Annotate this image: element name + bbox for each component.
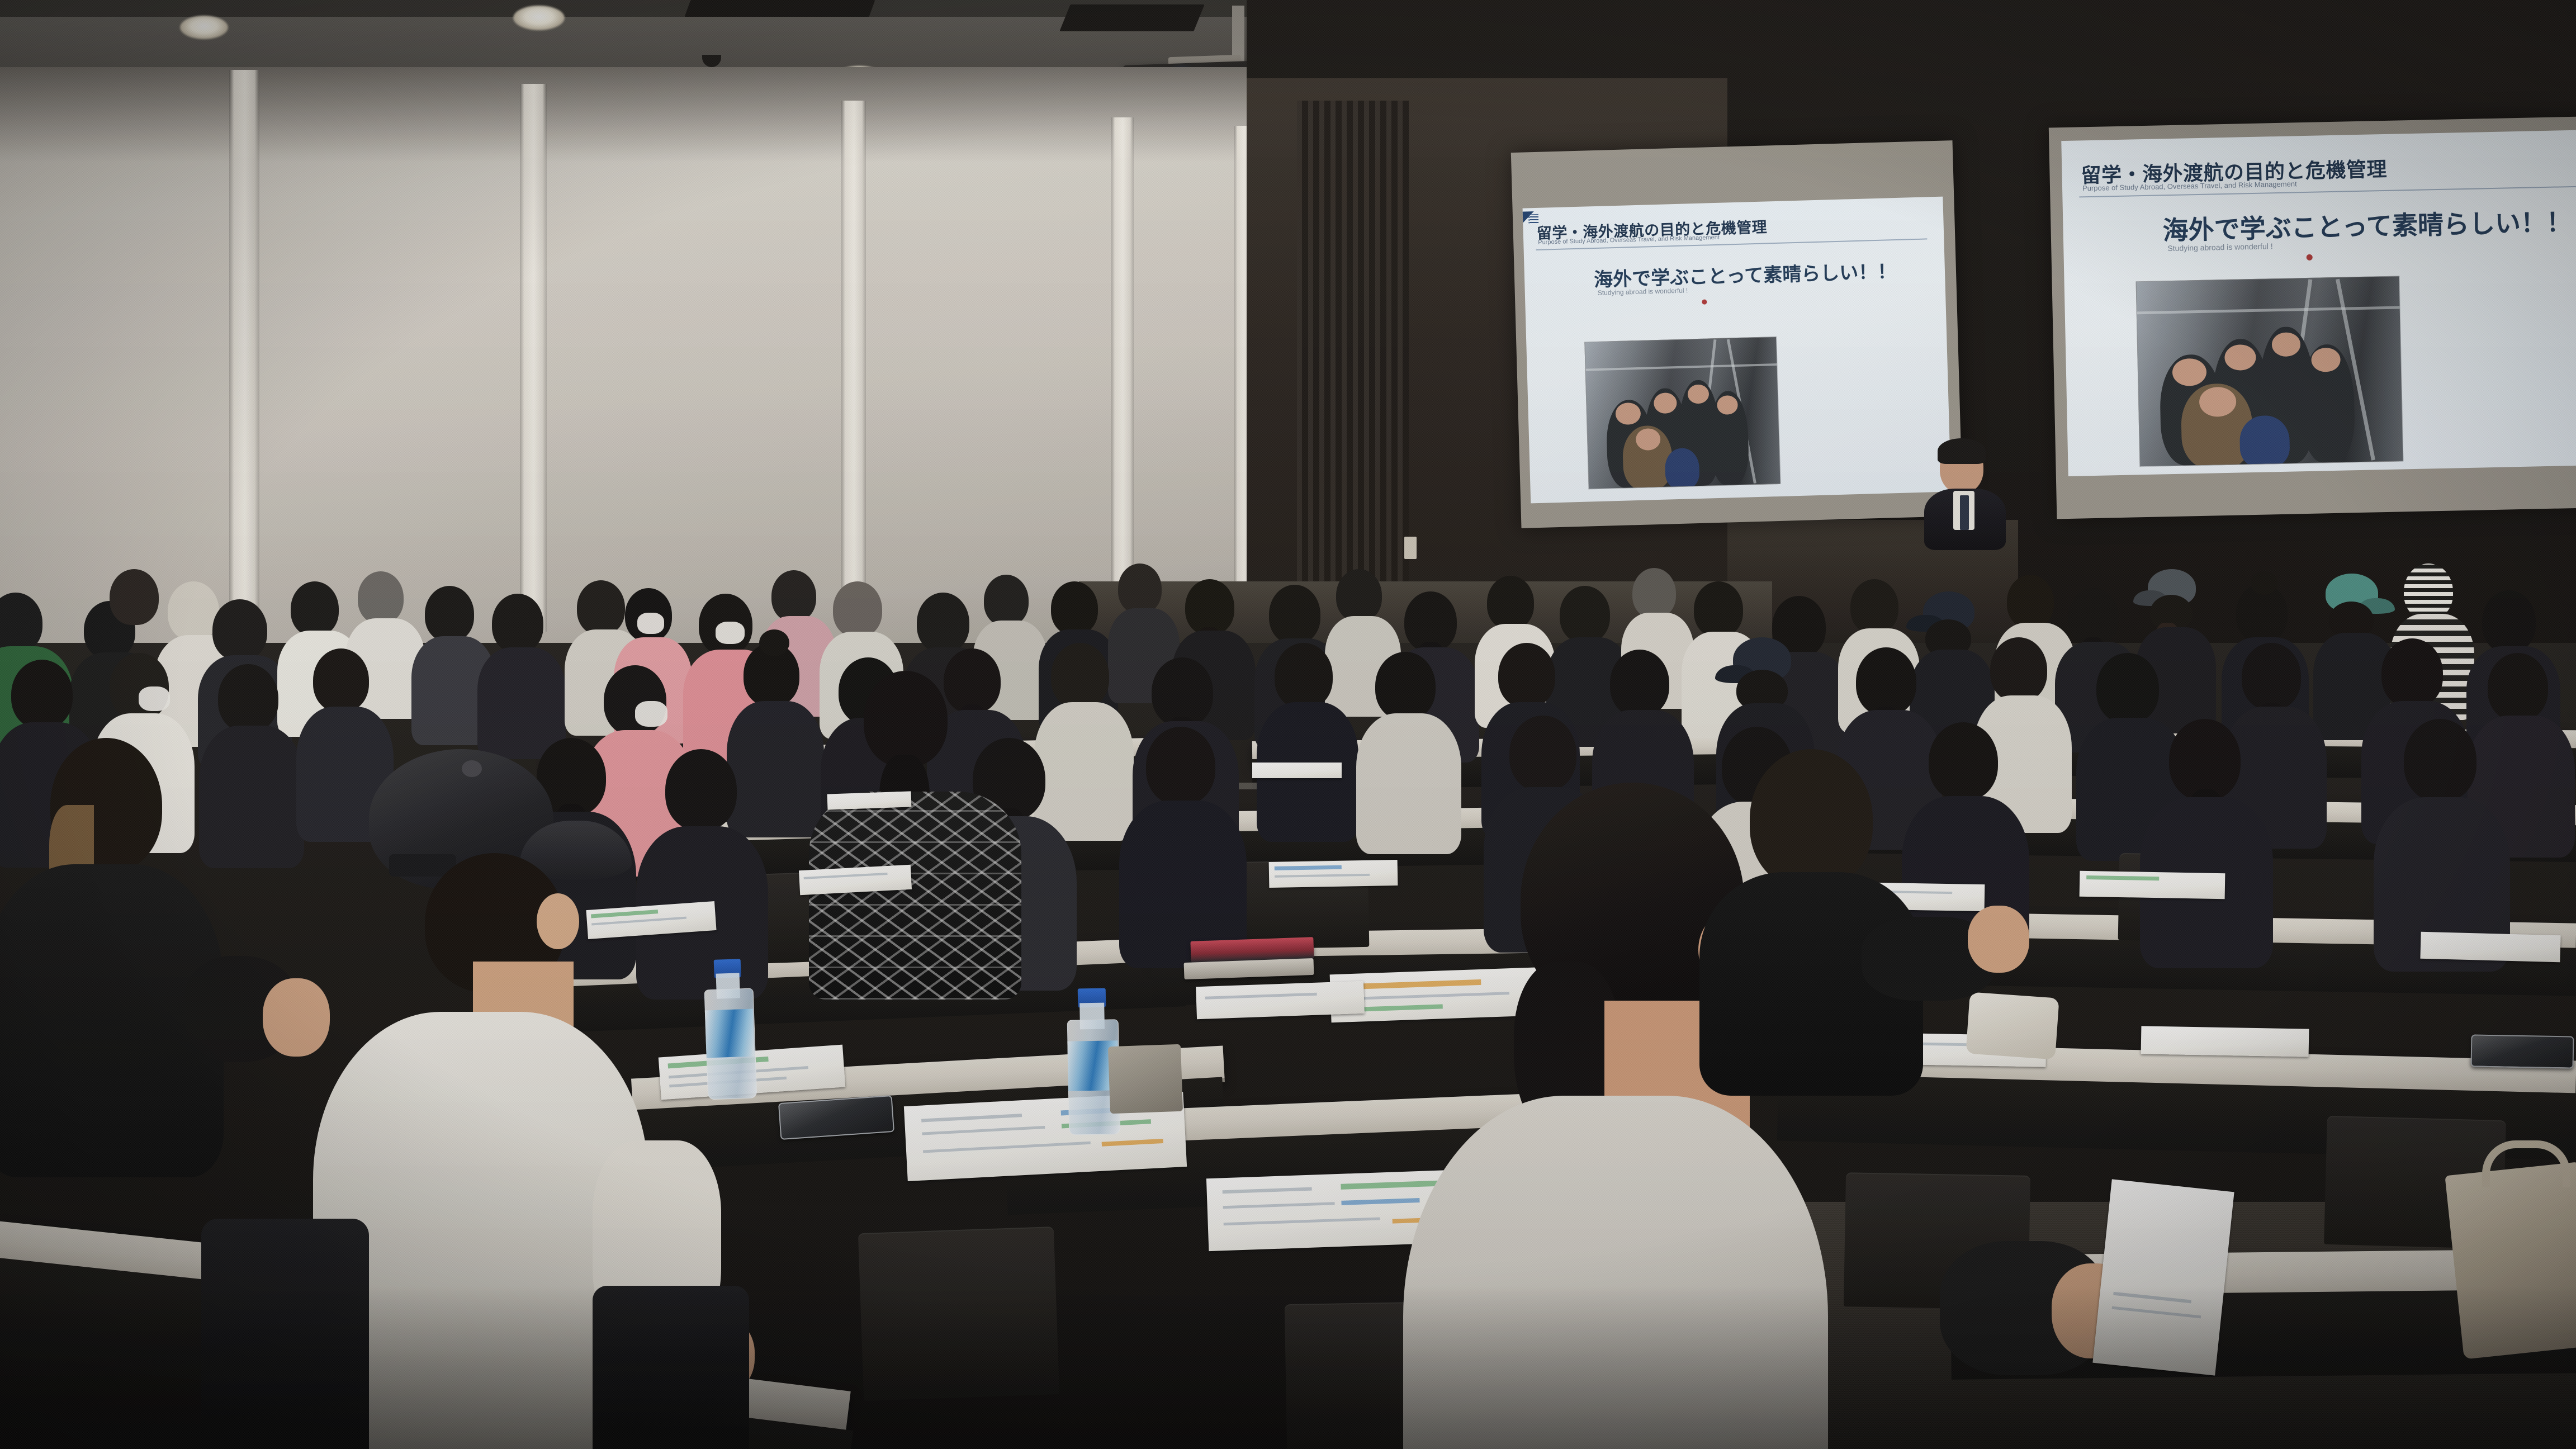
pencil-pouch[interactable] [1108, 1044, 1183, 1114]
presenter-hair [1938, 438, 1986, 464]
slide-photo [1584, 337, 1781, 490]
student-hand [1968, 906, 2029, 973]
bottle-label [705, 1009, 755, 1058]
scene-shadow [0, 1286, 2576, 1449]
student-head [1750, 749, 1873, 889]
student-hand [263, 978, 330, 1057]
printed-handout[interactable] [2420, 932, 2560, 963]
right-slide: 留学・海外渡航の目的と危機管理 Purpose of Study Abroad,… [2061, 130, 2576, 476]
printed-handout[interactable] [827, 791, 912, 809]
wall-pilaster [841, 101, 866, 632]
towel-item[interactable] [1966, 992, 2059, 1060]
slide-headline-ja: 海外で学ぶことって素晴らしい！！ [1593, 256, 1896, 292]
left-slide: 留学・海外渡航の目的と危機管理 Purpose of Study Abroad,… [1523, 197, 1951, 504]
wall-pilaster [229, 70, 259, 629]
slide-photo [2136, 276, 2404, 467]
slide-bullet-marker [2307, 254, 2313, 261]
student-head [864, 671, 948, 767]
light-switch-plate[interactable] [1404, 537, 1417, 559]
printed-handout[interactable] [2080, 871, 2225, 899]
water-bottle[interactable] [703, 959, 756, 1100]
printed-handout[interactable] [1196, 981, 1365, 1019]
student-ear [537, 893, 579, 949]
slide-headline-en: Studying abroad is wonderful ! [2167, 241, 2273, 253]
ceiling-downlight [513, 6, 565, 30]
presenter-at-podium [1923, 442, 2007, 542]
ceiling-vent [1059, 4, 1204, 31]
presenter-necktie [1960, 495, 1969, 530]
printed-handout[interactable] [1269, 860, 1398, 888]
wood-slat-panel [1297, 101, 1409, 637]
ceiling-vent [685, 0, 875, 17]
cap-button [462, 760, 482, 777]
printed-handout[interactable] [1252, 763, 1342, 778]
wall-pilaster [1111, 117, 1134, 632]
printed-handout[interactable] [2141, 1026, 2309, 1057]
wall-pilaster [520, 84, 547, 632]
smartphone-on-desk[interactable] [2471, 1034, 2574, 1068]
right-projection-screen: 留学・海外渡航の目的と危機管理 Purpose of Study Abroad,… [2049, 116, 2576, 519]
ceiling-downlight [180, 16, 228, 39]
left-projection-screen: 留学・海外渡航の目的と危機管理 Purpose of Study Abroad,… [1511, 140, 1963, 528]
slide-bullet-marker [1702, 299, 1707, 304]
slide-headline-ja: 海外で学ぶことって素晴らしい！！ [2162, 202, 2573, 247]
tote-bag-handle [2482, 1140, 2570, 1187]
wall-shadow [0, 67, 1303, 162]
lecture-hall-photo: 留学・海外渡航の目的と危機管理 Purpose of Study Abroad,… [0, 0, 2576, 1449]
student-torso [809, 792, 1021, 1000]
